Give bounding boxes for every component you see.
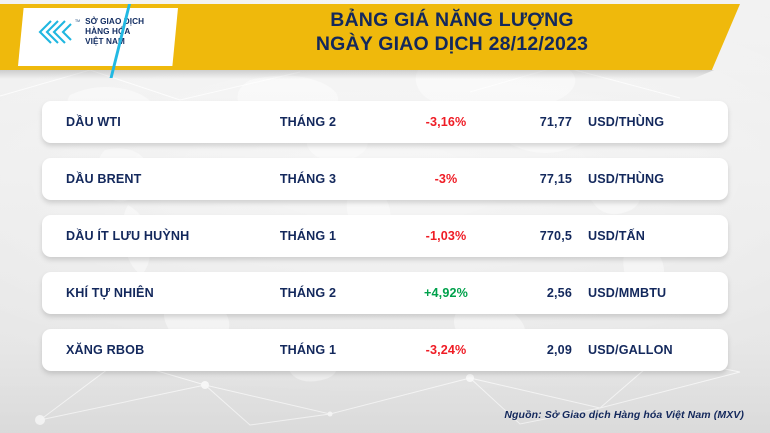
logo-line-3: VIỆT NAM xyxy=(85,37,144,47)
logo-line-1: SỞ GIAO DỊCH xyxy=(85,17,144,27)
title-main: BẢNG GIÁ NĂNG LƯỢNG xyxy=(190,9,714,33)
price-value: 77,15 xyxy=(482,172,572,186)
contract-month: THÁNG 3 xyxy=(248,172,368,186)
logo-wordmark: SỞ GIAO DỊCH HÀNG HÓA VIỆT NAM xyxy=(85,17,144,47)
trademark-mark: TM xyxy=(75,20,80,24)
price-unit: USD/TẤN xyxy=(588,229,645,243)
table-row[interactable]: DẦU BRENT THÁNG 3 -3% 77,15 USD/THÙNG xyxy=(42,158,728,200)
contract-month: THÁNG 1 xyxy=(248,229,368,243)
commodity-name: KHÍ TỰ NHIÊN xyxy=(66,286,154,300)
energy-price-board: TM SỞ GIAO DỊCH HÀNG HÓA VIỆT NAM BẢNG G… xyxy=(0,0,770,433)
price-unit: USD/THÙNG xyxy=(588,115,664,129)
contract-month: THÁNG 2 xyxy=(248,286,368,300)
commodity-name: DẦU ÍT LƯU HUỲNH xyxy=(66,229,189,243)
price-unit: USD/GALLON xyxy=(588,343,673,357)
commodity-name: XĂNG RBOB xyxy=(66,343,144,357)
price-value: 2,09 xyxy=(482,343,572,357)
price-value: 770,5 xyxy=(482,229,572,243)
commodity-name: DẦU BRENT xyxy=(66,172,142,186)
table-row[interactable]: KHÍ TỰ NHIÊN THÁNG 2 +4,92% 2,56 USD/MMB… xyxy=(42,272,728,314)
table-row[interactable]: DẦU ÍT LƯU HUỲNH THÁNG 1 -1,03% 770,5 US… xyxy=(42,215,728,257)
price-table: DẦU WTI THÁNG 2 -3,16% 71,77 USD/THÙNG D… xyxy=(42,101,728,371)
page-title: BẢNG GIÁ NĂNG LƯỢNG NGÀY GIAO DỊCH 28/12… xyxy=(190,9,714,57)
table-row[interactable]: DẦU WTI THÁNG 2 -3,16% 71,77 USD/THÙNG xyxy=(42,101,728,143)
logo-line-2: HÀNG HÓA xyxy=(85,27,144,37)
price-unit: USD/MMBTU xyxy=(588,286,666,300)
logo-panel: TM SỞ GIAO DỊCH HÀNG HÓA VIỆT NAM xyxy=(18,8,178,66)
title-subtitle: NGÀY GIAO DỊCH 28/12/2023 xyxy=(190,33,714,57)
table-row[interactable]: XĂNG RBOB THÁNG 1 -3,24% 2,09 USD/GALLON xyxy=(42,329,728,371)
contract-month: THÁNG 1 xyxy=(248,343,368,357)
source-attribution: Nguồn: Sở Giao dịch Hàng hóa Việt Nam (M… xyxy=(504,409,744,421)
banner-shadow xyxy=(0,70,714,79)
price-value: 2,56 xyxy=(482,286,572,300)
commodity-name: DẦU WTI xyxy=(66,115,121,129)
page-header: TM SỞ GIAO DỊCH HÀNG HÓA VIỆT NAM BẢNG G… xyxy=(0,0,770,86)
mxv-chevron-logo-icon xyxy=(38,19,72,45)
contract-month: THÁNG 2 xyxy=(248,115,368,129)
price-unit: USD/THÙNG xyxy=(588,172,664,186)
price-value: 71,77 xyxy=(482,115,572,129)
